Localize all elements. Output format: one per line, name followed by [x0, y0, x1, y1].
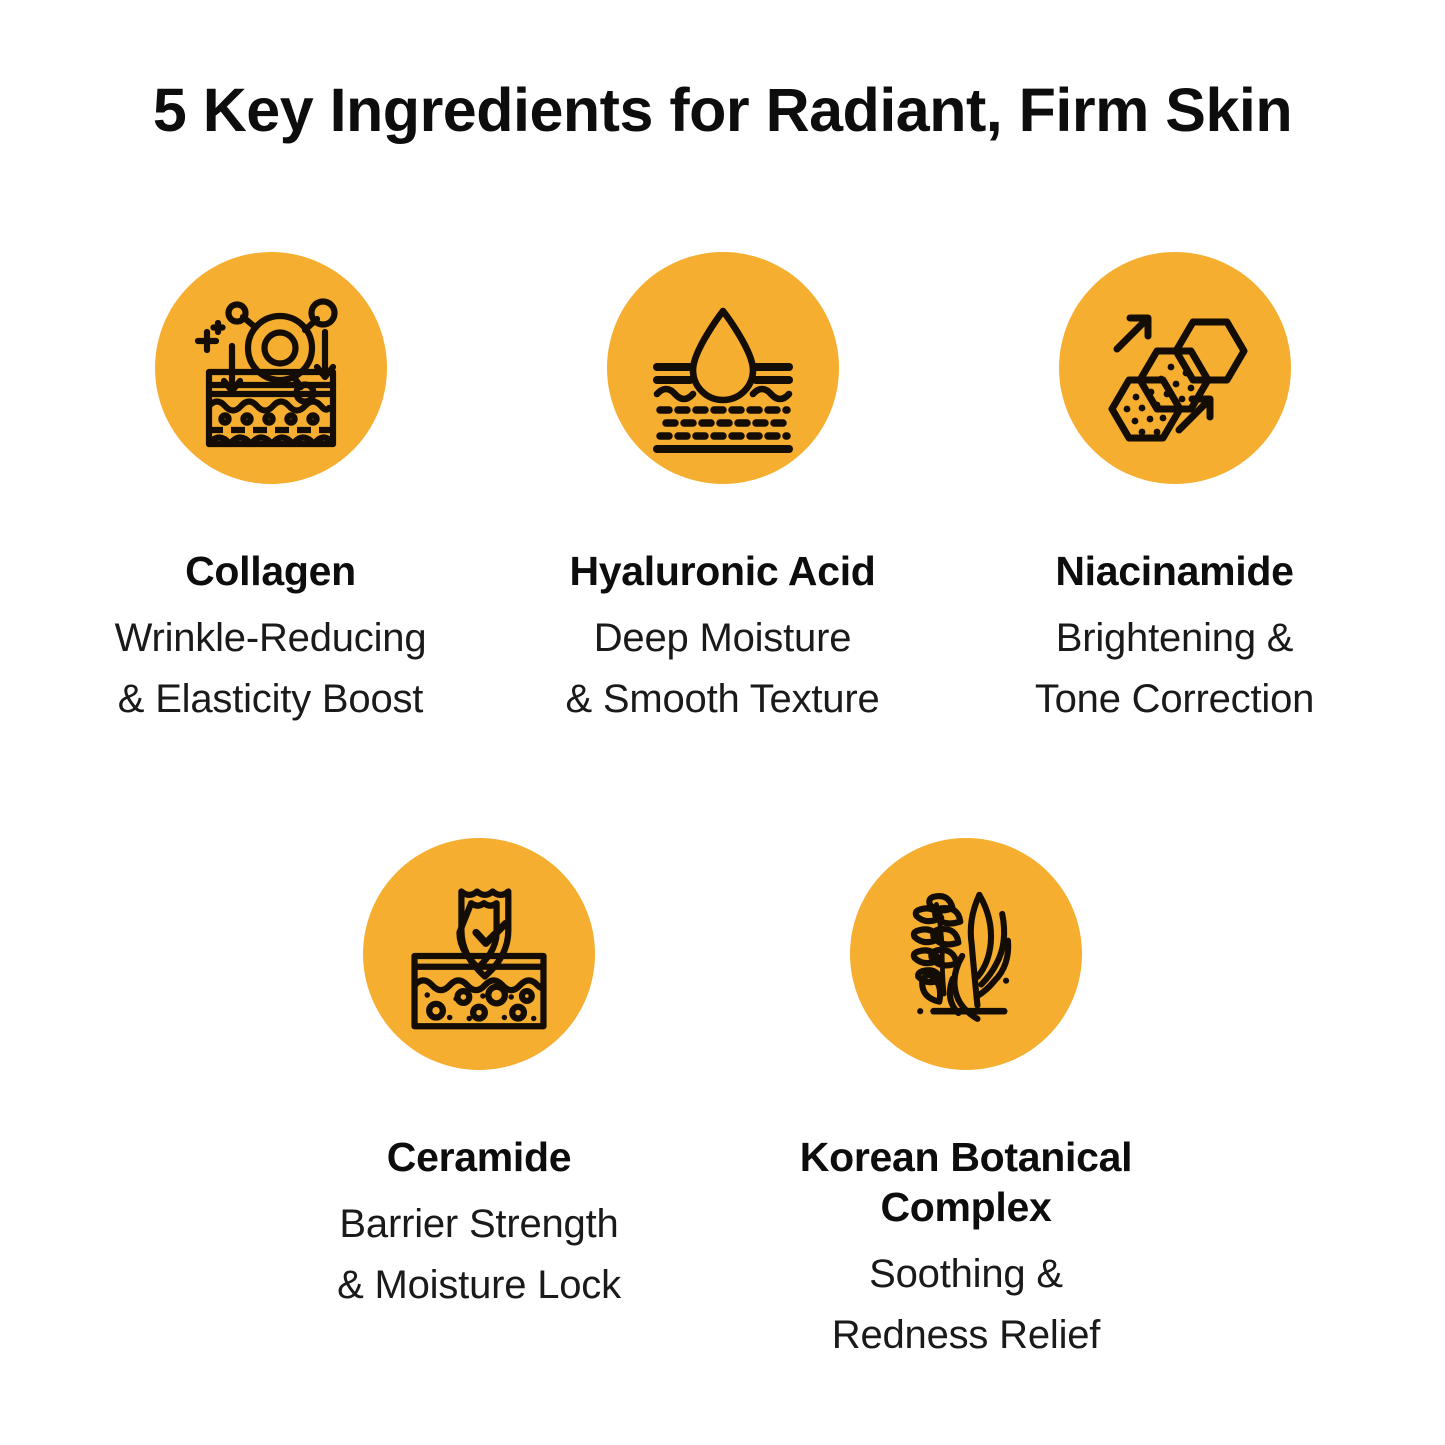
ingredient-card-hyaluronic-acid: Hyaluronic Acid Deep Moisture & Smooth T…: [497, 252, 949, 730]
ingredient-title: Korean Botanical Complex: [751, 1132, 1181, 1232]
collagen-skin-layers-icon: [155, 252, 387, 484]
ingredient-description: Brightening & Tone Correction: [1035, 608, 1314, 730]
ingredient-card-korean-botanical-complex: Korean Botanical Complex Soothing & Redn…: [723, 838, 1210, 1366]
ingredient-title: Hyaluronic Acid: [569, 546, 875, 596]
ingredient-row-2: Ceramide Barrier Strength & Moisture Loc…: [0, 838, 1445, 1366]
page-title: 5 Key Ingredients for Radiant, Firm Skin: [0, 78, 1445, 142]
hyaluronic-acid-droplet-icon: [607, 252, 839, 484]
ingredient-row-1: Collagen Wrinkle-Reducing & Elasticity B…: [0, 252, 1445, 730]
niacinamide-honeycomb-icon: [1059, 252, 1291, 484]
ingredient-description: Barrier Strength & Moisture Lock: [337, 1194, 621, 1316]
ingredient-card-niacinamide: Niacinamide Brightening & Tone Correctio…: [949, 252, 1401, 730]
korean-botanical-plant-icon: [850, 838, 1082, 1070]
ingredient-card-ceramide: Ceramide Barrier Strength & Moisture Loc…: [236, 838, 723, 1316]
ingredient-title: Ceramide: [387, 1132, 571, 1182]
ingredient-desc-line-2: & Smooth Texture: [565, 669, 879, 730]
ingredient-desc-line-1: Deep Moisture: [565, 608, 879, 669]
ingredient-description: Deep Moisture & Smooth Texture: [565, 608, 879, 730]
ingredient-desc-line-2: Redness Relief: [832, 1305, 1100, 1366]
ingredient-desc-line-1: Brightening &: [1035, 608, 1314, 669]
ingredient-desc-line-2: & Elasticity Boost: [115, 669, 427, 730]
ingredient-desc-line-1: Wrinkle-Reducing: [115, 608, 427, 669]
ingredient-description: Wrinkle-Reducing & Elasticity Boost: [115, 608, 427, 730]
ingredient-desc-line-2: & Moisture Lock: [337, 1255, 621, 1316]
ingredient-title: Niacinamide: [1055, 546, 1293, 596]
ingredient-desc-line-1: Soothing &: [832, 1244, 1100, 1305]
ingredient-desc-line-2: Tone Correction: [1035, 669, 1314, 730]
ingredient-title: Collagen: [185, 546, 356, 596]
ingredient-card-collagen: Collagen Wrinkle-Reducing & Elasticity B…: [45, 252, 497, 730]
infographic-page: 5 Key Ingredients for Radiant, Firm Skin: [0, 0, 1445, 1445]
ingredient-desc-line-1: Barrier Strength: [337, 1194, 621, 1255]
ceramide-shield-skin-icon: [363, 838, 595, 1070]
ingredient-description: Soothing & Redness Relief: [832, 1244, 1100, 1366]
